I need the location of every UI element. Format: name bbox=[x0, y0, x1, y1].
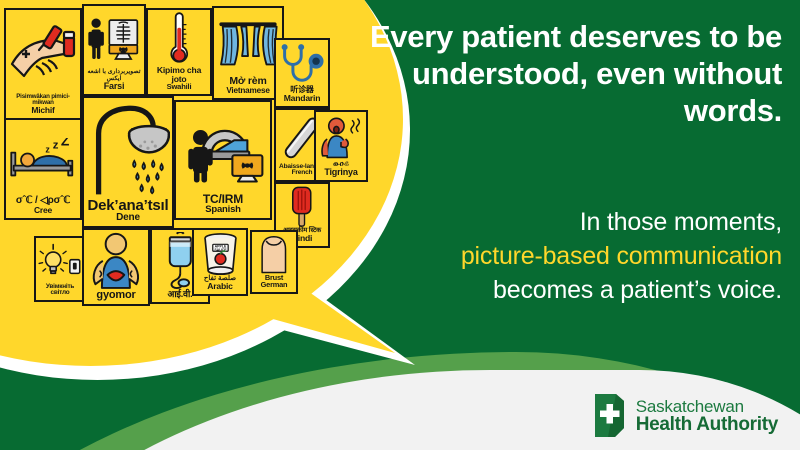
subcopy-block: In those moments, picture-based communic… bbox=[362, 206, 782, 307]
card-native-text: gyomor bbox=[96, 290, 135, 301]
subcopy-line-3: becomes a patient’s voice. bbox=[493, 276, 782, 304]
card-native-text: आई.वी. bbox=[168, 290, 193, 299]
lightbulb-switch-icon bbox=[38, 240, 82, 284]
svg-text:z: z bbox=[53, 140, 59, 152]
communication-card-ct-mri[interactable]: TC/IRMSpanish bbox=[174, 100, 272, 220]
communication-card-sleep[interactable]: z z Zσˆℂ / ◁ρσˆℂCree bbox=[4, 118, 82, 220]
card-label: 听诊器Mandarin bbox=[284, 86, 321, 103]
card-label: Mở rèmVietnamese bbox=[226, 76, 269, 95]
health-cross-shield-icon bbox=[592, 392, 627, 439]
card-language-name: German bbox=[261, 281, 288, 289]
card-language-name: Farsi bbox=[86, 82, 142, 91]
logo-wordmark: Saskatchewan Health Authority bbox=[636, 398, 778, 434]
card-native-text: Kipimo cha joto bbox=[150, 66, 208, 84]
arm-blood-draw-icon bbox=[8, 12, 78, 94]
subcopy-highlight: picture-based communication bbox=[461, 242, 782, 270]
card-label: Увімкніть світло bbox=[38, 284, 82, 297]
shower-icon bbox=[86, 100, 170, 198]
communication-card-turn-on-light[interactable]: Увімкніть світло bbox=[34, 236, 86, 302]
communication-card-blood-draw[interactable]: Pisimwâkan pimici-mikwanMichif bbox=[4, 8, 82, 120]
organization-logo: Saskatchewan Health Authority bbox=[592, 392, 778, 439]
card-language-name: Swahili bbox=[150, 83, 208, 91]
card-language-name: Spanish bbox=[203, 205, 243, 215]
applesauce-cup-icon: APPLESAUCE bbox=[196, 232, 244, 275]
popsicle-icon bbox=[278, 186, 326, 228]
communication-card-stomach[interactable]: gyomor bbox=[82, 228, 150, 306]
communication-card-stethoscope[interactable]: 听诊器Mandarin bbox=[274, 38, 330, 108]
card-label: ውዑይTigrinya bbox=[324, 161, 357, 177]
card-language-name: Dene bbox=[88, 213, 169, 223]
card-label: TC/IRMSpanish bbox=[203, 193, 243, 215]
person-stomach-pain-icon bbox=[86, 232, 146, 290]
logo-line-2: Health Authority bbox=[636, 415, 778, 434]
xray-machine-icon bbox=[86, 8, 142, 69]
subcopy-line-1: In those moments, bbox=[580, 208, 782, 236]
card-language-name: Tigrinya bbox=[324, 168, 357, 177]
communication-card-xray[interactable]: تصویربرداری با اشعه ایکسFarsi bbox=[82, 4, 146, 96]
communication-card-applesauce[interactable]: APPLESAUCE صلصة تفاحArabic bbox=[192, 228, 248, 296]
svg-text:z: z bbox=[45, 145, 50, 155]
thermometer-icon bbox=[150, 12, 208, 66]
stethoscope-icon bbox=[278, 42, 326, 86]
card-label: gyomor bbox=[96, 290, 135, 301]
page-title: Every patient deserves to be understood,… bbox=[362, 18, 782, 130]
communication-card-thermometer[interactable]: Kipimo cha jotoSwahili bbox=[146, 8, 212, 96]
logo-line-1: Saskatchewan bbox=[636, 398, 778, 415]
card-native-text: Dek’ana’tsıl bbox=[88, 198, 169, 213]
ct-scanner-icon bbox=[178, 104, 268, 193]
card-label: Dek’ana’tsılDene bbox=[88, 198, 169, 223]
person-feeling-hot-icon bbox=[318, 114, 364, 161]
card-language-name: Vietnamese bbox=[226, 87, 269, 95]
card-label: σˆℂ / ◁ρσˆℂCree bbox=[16, 196, 70, 215]
card-language-name: Arabic bbox=[204, 282, 236, 291]
torso-chest-icon bbox=[254, 234, 294, 274]
communication-card-board: Pisimwâkan pimici-mikwanMichif تصویربردا… bbox=[0, 0, 368, 320]
card-language-name: Michif bbox=[8, 106, 78, 115]
card-label: BrustGerman bbox=[261, 274, 288, 289]
card-label: تصویربرداری با اشعه ایکسFarsi bbox=[86, 69, 142, 91]
svg-text:Z: Z bbox=[61, 138, 70, 148]
card-native-text: Увімкніть світло bbox=[38, 284, 82, 297]
card-label: Kipimo cha jotoSwahili bbox=[150, 66, 208, 91]
card-language-name: Cree bbox=[16, 206, 70, 215]
card-label: صلصة تفاحArabic bbox=[204, 275, 236, 291]
card-language-name: Mandarin bbox=[284, 94, 321, 103]
curtains-icon bbox=[216, 10, 280, 76]
card-label: Pisimwâkan pimici-mikwanMichif bbox=[8, 94, 78, 115]
card-native-text: تصویربرداری با اشعه ایکس bbox=[86, 69, 142, 82]
communication-card-shower[interactable]: Dek’ana’tsılDene bbox=[82, 96, 174, 228]
poster-canvas: Pisimwâkan pimici-mikwanMichif تصویربردا… bbox=[0, 0, 800, 450]
communication-card-fever-hot[interactable]: ውዑይTigrinya bbox=[314, 110, 368, 182]
communication-card-chest[interactable]: BrustGerman bbox=[250, 230, 298, 294]
card-label: आई.वी. bbox=[168, 290, 193, 299]
person-sleeping-in-bed-icon: z z Z bbox=[8, 122, 78, 196]
